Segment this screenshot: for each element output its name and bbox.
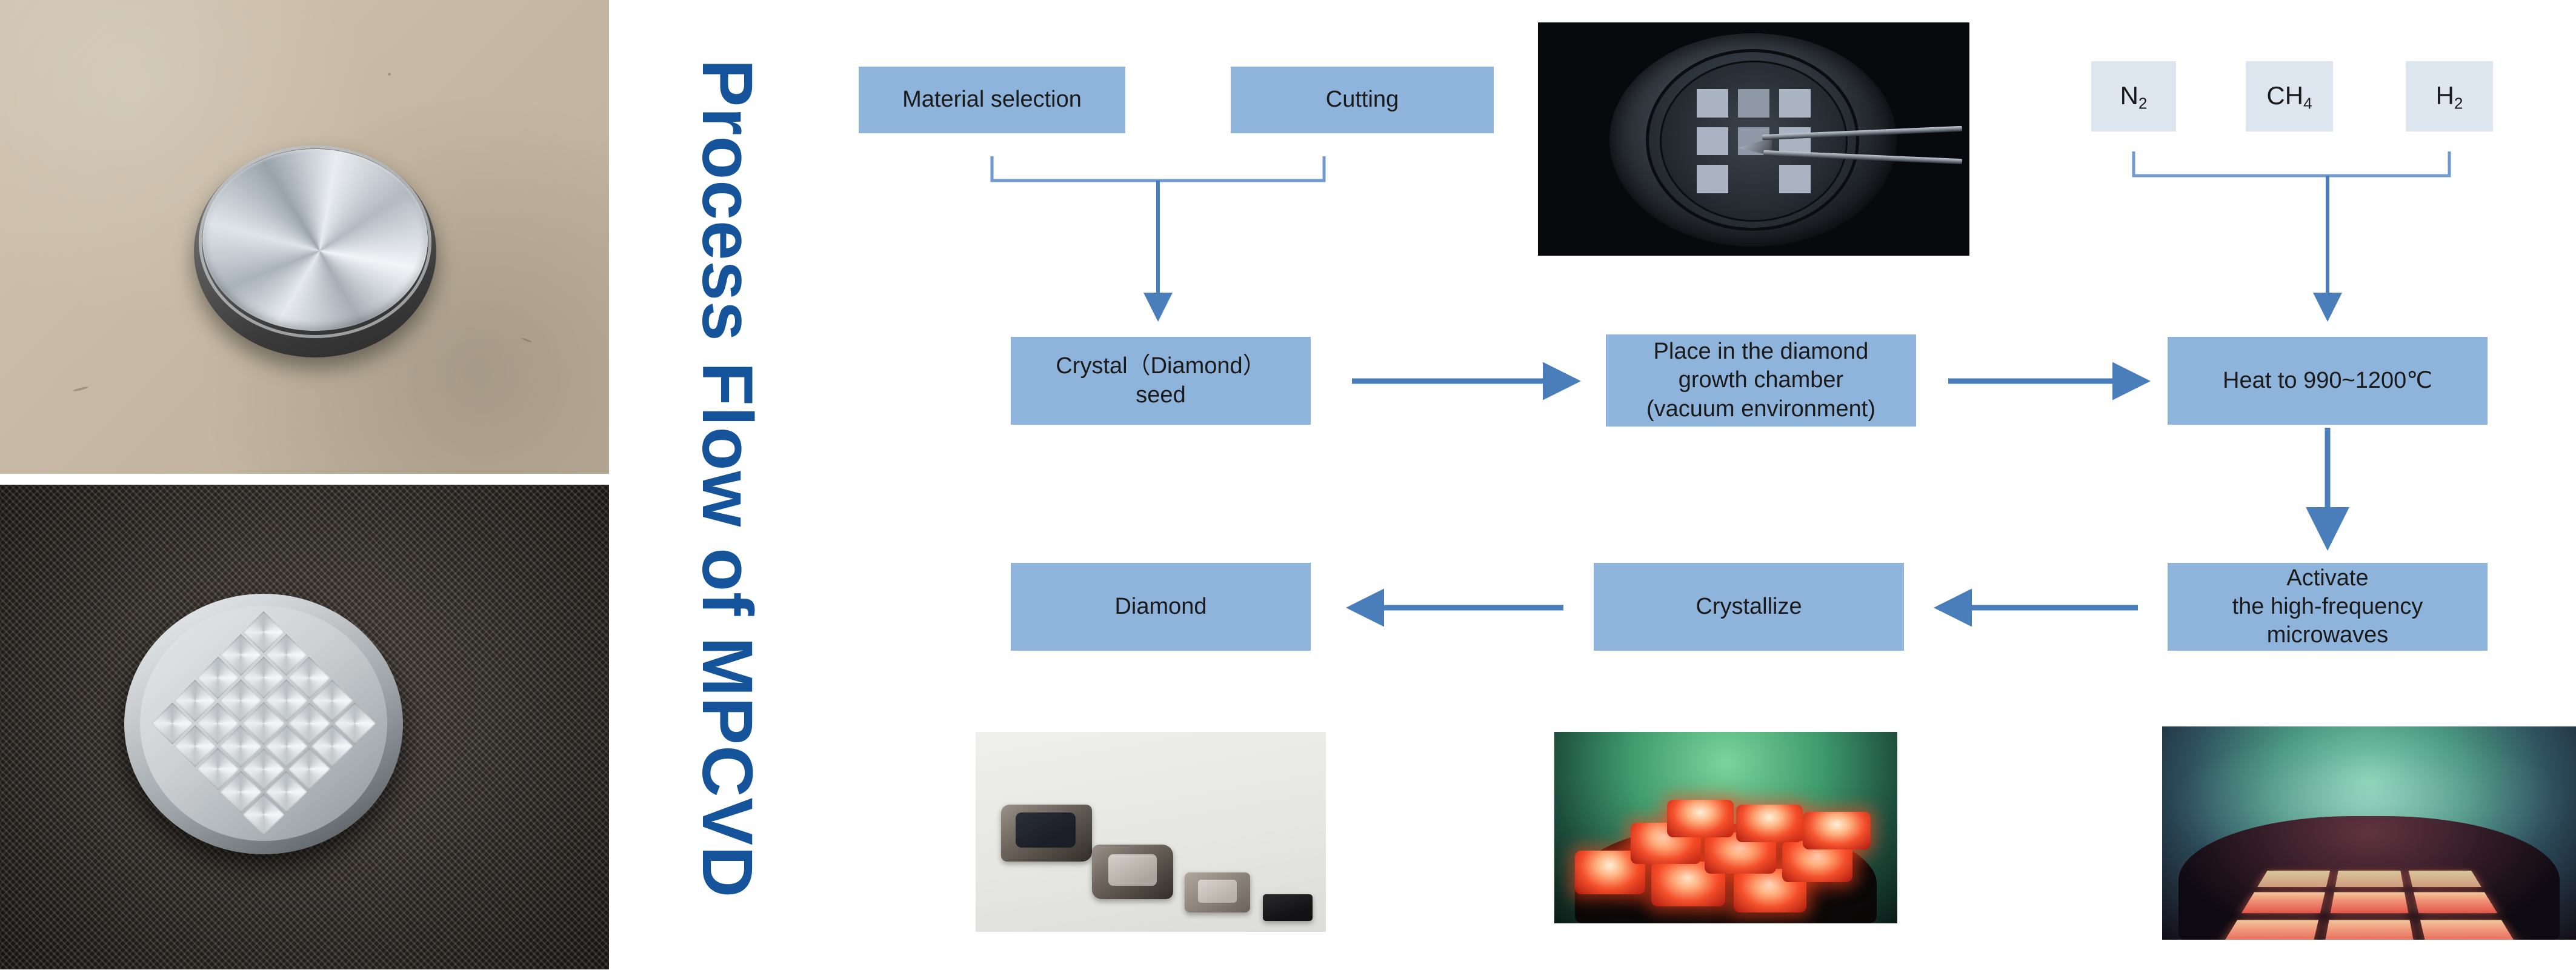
- flow-box-cutting[interactable]: Cutting: [1231, 67, 1494, 133]
- flow-box-crystal-seed[interactable]: Crystal（Diamond） seed: [1011, 337, 1311, 425]
- seed-plate: [1697, 165, 1728, 193]
- chamber-mid-ring: [1646, 49, 1859, 231]
- flow-box-growth-chamber[interactable]: Place in the diamond growth chamber (vac…: [1606, 334, 1916, 427]
- flow-box-line: (vacuum environment): [1646, 396, 1875, 422]
- seed-plate: [1697, 89, 1728, 118]
- plasma-seed-tile: [2409, 871, 2481, 887]
- crystal-facet: [1198, 880, 1237, 903]
- flow-box-line: microwaves: [2267, 622, 2389, 648]
- flow-box-crystallize[interactable]: Crystallize: [1594, 563, 1904, 651]
- cardboard-speck: [73, 386, 88, 392]
- flow-box-line: growth chamber: [1679, 367, 1843, 393]
- plasma-seed-tile: [2257, 871, 2330, 887]
- gas-formula: H2: [2436, 80, 2463, 113]
- seed-plate-grid: [1697, 89, 1811, 193]
- flow-box-activate-microwaves[interactable]: Activate the high-frequency microwaves: [2168, 563, 2488, 651]
- seed-plate: [1779, 165, 1811, 193]
- substrate-holder-face: [140, 606, 387, 841]
- substrate-holder-body: [124, 594, 403, 854]
- page-title: Process Flow of MPCVD: [673, 24, 782, 933]
- flow-box-label: Material selection: [902, 85, 1082, 114]
- flow-box-label: Crystallize: [1696, 593, 1802, 621]
- cardboard-speck: [521, 337, 532, 343]
- plasma-seed-tile: [2323, 920, 2415, 940]
- seed-plate: [1697, 127, 1728, 156]
- flow-box-diamond[interactable]: Diamond: [1011, 563, 1311, 651]
- plasma-seed-tile: [2335, 871, 2403, 887]
- photo-diamond-crystals: [976, 732, 1326, 932]
- seed-plate: [1779, 89, 1811, 118]
- flow-box-label: Heat to 990~1200℃: [2223, 367, 2432, 395]
- photo-plasma-seed-array: [2162, 726, 2576, 940]
- cardboard-speck: [388, 73, 391, 76]
- gas-formula: CH4: [2266, 80, 2312, 113]
- glowing-diamond: [1736, 805, 1803, 842]
- flow-box-line: the high-frequency: [2232, 594, 2423, 619]
- metal-disc-body: [194, 145, 436, 357]
- flow-box-material-selection[interactable]: Material selection: [859, 67, 1125, 133]
- plasma-seed-grid: [2220, 871, 2518, 940]
- photo-substrate-holder: [0, 485, 609, 969]
- flow-box-line: Activate: [2286, 565, 2368, 591]
- chamber-inner-ring: [1660, 61, 1848, 222]
- crystal-facet: [1108, 854, 1157, 886]
- diamond-crystal: [1092, 845, 1173, 899]
- photo-chamber-with-tweezers: [1538, 22, 1969, 256]
- photo-polished-metal-disc: [0, 0, 609, 474]
- seed-plate-empty: [1738, 165, 1769, 193]
- flow-box-line: seed: [1136, 382, 1185, 408]
- plasma-seed-tile: [2330, 892, 2408, 914]
- substrate-pocket-grid: [151, 611, 376, 836]
- page-title-text: Process Flow of MPCVD: [686, 59, 768, 899]
- connector-inputs-bracket: [992, 156, 1324, 318]
- photo-red-hot-diamonds: [1554, 732, 1897, 923]
- flow-box-gas-n2[interactable]: N2: [2091, 61, 2176, 131]
- plasma-seed-tile: [2420, 920, 2518, 940]
- flow-box-label: Activate the high-frequency microwaves: [2232, 564, 2423, 649]
- diamond-crystal: [1185, 872, 1250, 912]
- chamber-outer-ring: [1609, 33, 1897, 247]
- metal-disc-rim: [199, 145, 431, 338]
- flow-box-gas-ch4[interactable]: CH4: [2246, 61, 2333, 131]
- flow-box-label: Diamond: [1114, 593, 1206, 621]
- diamond-crystal: [1263, 894, 1313, 921]
- crystal-facet: [1016, 812, 1076, 848]
- plasma-seed-tile: [2241, 892, 2325, 914]
- flow-box-line: Place in the diamond: [1654, 339, 1869, 364]
- gas-formula: N2: [2120, 80, 2148, 113]
- flow-box-line: Crystal（Diamond）: [1056, 353, 1265, 379]
- flow-box-label: Place in the diamond growth chamber (vac…: [1646, 337, 1875, 423]
- gas-subscript: 4: [2303, 94, 2312, 112]
- gas-subscript: 2: [2454, 94, 2463, 112]
- connector-gases-bracket: [2134, 151, 2449, 318]
- glowing-diamond: [1667, 800, 1734, 837]
- plasma-seed-tile: [2220, 920, 2318, 940]
- flow-box-label: Crystal（Diamond） seed: [1056, 352, 1265, 409]
- gas-subscript: 2: [2138, 94, 2147, 112]
- flow-box-heat[interactable]: Heat to 990~1200℃: [2168, 337, 2488, 425]
- flow-box-gas-h2[interactable]: H2: [2406, 61, 2493, 131]
- seed-plate: [1738, 89, 1769, 118]
- plasma-seed-tile: [2414, 892, 2497, 914]
- glowing-diamond: [1803, 812, 1871, 849]
- diamond-crystal: [1001, 805, 1092, 862]
- flow-box-label: Cutting: [1326, 85, 1399, 114]
